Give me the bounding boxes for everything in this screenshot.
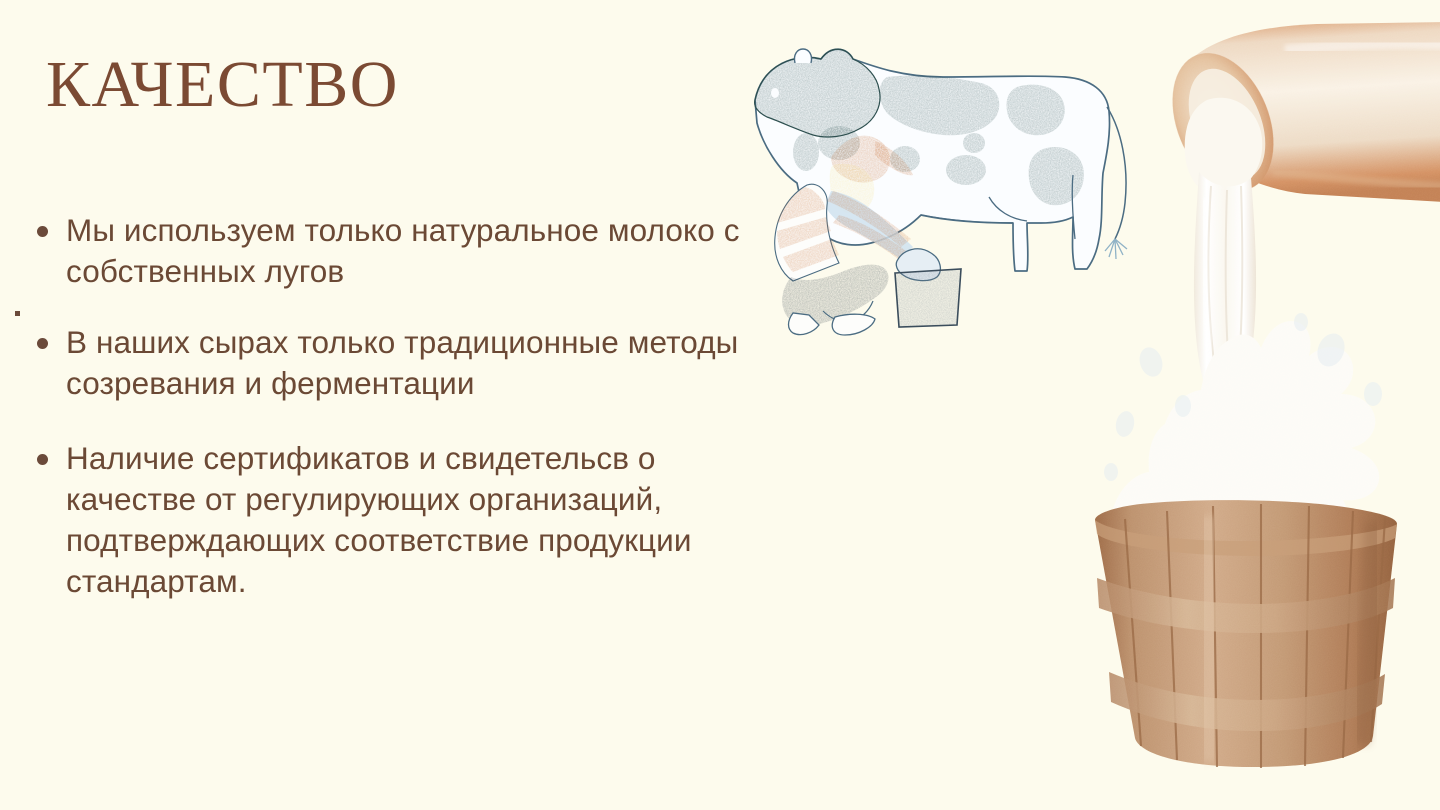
list-item-text: Мы используем только натуральное молоко … bbox=[66, 210, 744, 292]
bullet-dot-icon bbox=[37, 338, 48, 349]
wooden-jug bbox=[1153, 22, 1440, 206]
slide: КАЧЕСТВО Мы используем только натурально… bbox=[0, 0, 1440, 810]
list-item: Мы используем только натуральное молоко … bbox=[24, 210, 744, 292]
list-item-text: Наличие сертификатов и свидетельсв о кач… bbox=[66, 438, 744, 602]
milk-pouring-into-wooden-bucket-illustration bbox=[1055, 22, 1440, 782]
bullet-dot-icon bbox=[37, 454, 48, 465]
bullet-dot-icon bbox=[37, 226, 48, 237]
wooden-bucket bbox=[1095, 500, 1397, 768]
list-item: В наших сырах только традиционные методы… bbox=[24, 322, 744, 404]
page-title: КАЧЕСТВО bbox=[46, 52, 399, 118]
bullet-list: Мы используем только натуральное молоко … bbox=[24, 210, 744, 602]
milk-pail bbox=[895, 249, 961, 327]
list-item: Наличие сертификатов и свидетельсв о кач… bbox=[24, 438, 744, 602]
stray-dot-artifact bbox=[15, 311, 20, 316]
list-item-text: В наших сырах только традиционные методы… bbox=[66, 322, 744, 404]
